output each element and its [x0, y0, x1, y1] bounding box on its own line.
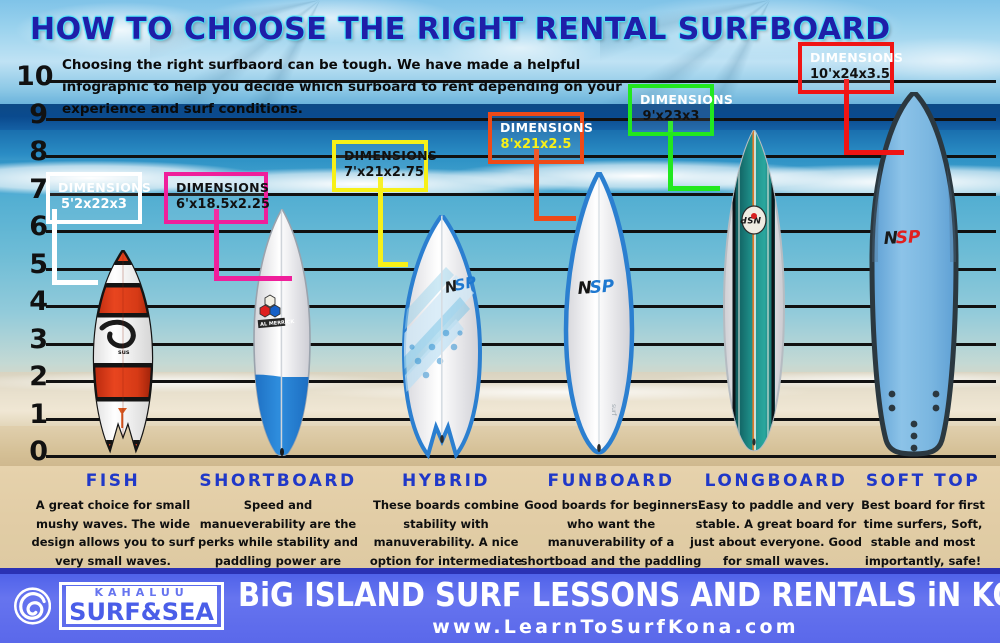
wave-spiral-icon [14, 577, 51, 635]
dimension-callout-soft-top[interactable]: DIMENSIONS10'x24x3.5 [798, 42, 894, 94]
funboard-fin [597, 444, 601, 452]
scale-gridline-2 [46, 380, 996, 383]
caption-description: Easy to paddle and very stable. A great … [686, 496, 866, 571]
board-longboard[interactable]: NSP [714, 130, 794, 455]
callout-heading: DIMENSIONS [640, 93, 702, 107]
callout-leader-horizontal-4 [668, 186, 720, 191]
callout-leader-horizontal-2 [378, 262, 408, 267]
infographic-page: HOW TO CHOOSE THE RIGHT RENTAL SURFBOARD… [0, 0, 1000, 643]
scale-tick-3: 3 [16, 326, 48, 353]
hybrid-fin [440, 435, 444, 443]
callout-value: 5'2x22x3 [58, 195, 130, 215]
callout-heading: DIMENSIONS [810, 51, 882, 65]
scale-gridline-5 [46, 268, 996, 271]
callout-leader-horizontal-3 [534, 216, 576, 221]
scale-tick-1: 1 [16, 401, 48, 428]
callout-value: 8'x21x2.5 [500, 135, 572, 155]
callout-heading: DIMENSIONS [500, 121, 572, 135]
callout-leader-horizontal-0 [52, 280, 98, 285]
dimension-callout-longboard[interactable]: DIMENSIONS9'x23x3 [628, 84, 714, 136]
callout-value: 7'x21x2.75 [344, 163, 416, 183]
callout-leader-horizontal-5 [844, 150, 904, 155]
svg-text:SP: SP [589, 276, 616, 298]
board-shortboard[interactable]: AL MERRICK [244, 209, 320, 459]
longboard-fin [752, 439, 755, 446]
scale-tick-8: 8 [16, 138, 48, 165]
scale-tick-0: 0 [16, 438, 48, 465]
brand-logo[interactable]: KAHALUU SURF&SEA [14, 574, 224, 638]
caption-title: FISH [28, 470, 198, 493]
brand-surfsea: SURF&SEA [66, 600, 217, 624]
callout-heading: DIMENSIONS [58, 181, 130, 195]
scale-gridline-4 [46, 305, 996, 308]
callout-value: 6'x18.5x2.25 [176, 195, 256, 215]
funboard-tail-mark: surf [610, 404, 617, 416]
svg-text:sus: sus [118, 349, 130, 356]
callout-heading: DIMENSIONS [176, 181, 256, 195]
caption-title: LONGBOARD [686, 470, 866, 493]
board-softtop[interactable]: N SP [862, 92, 966, 458]
board-caption-longboard: LONGBOARDEasy to paddle and very stable.… [686, 470, 866, 570]
footer-website-url[interactable]: www.LearnToSurfKona.com [238, 616, 993, 638]
board-hybrid[interactable]: N SP [396, 215, 488, 460]
scale-tick-5: 5 [16, 251, 48, 278]
brand-wordmark: KAHALUU SURF&SEA [59, 582, 224, 630]
caption-title: HYBRID [358, 470, 534, 493]
callout-leader-horizontal-1 [214, 276, 292, 281]
caption-title: FUNBOARD [518, 470, 704, 493]
caption-title: SOFT TOP [848, 470, 998, 493]
dimension-callout-funboard[interactable]: DIMENSIONS8'x21x2.5 [488, 112, 584, 164]
nsp-logo-softtop: N SP [883, 227, 921, 249]
scale-tick-4: 4 [16, 288, 48, 315]
longboard-stripes [733, 130, 776, 455]
scale-gridline-1 [46, 418, 996, 421]
page-title: HOW TO CHOOSE THE RIGHT RENTAL SURFBOARD [30, 12, 730, 47]
scale-tick-7: 7 [16, 176, 48, 203]
scale-gridline-3 [46, 343, 996, 346]
scale-gridline-6 [46, 230, 996, 233]
intro-paragraph: Choosing the right surfbaord can be toug… [62, 55, 632, 121]
softtop-outline [872, 92, 956, 454]
dimension-callout-shortboard[interactable]: DIMENSIONS6'x18.5x2.25 [164, 172, 268, 224]
svg-text:NSP: NSP [740, 214, 761, 224]
dimension-callout-fish[interactable]: DIMENSIONS5'2x22x3 [46, 172, 142, 224]
board-caption-soft-top: SOFT TOPBest board for first time surfer… [848, 470, 998, 570]
callout-value: 9'x23x3 [640, 107, 702, 127]
footer-banner: KAHALUU SURF&SEA BiG ISLAND SURF LESSONS… [0, 568, 1000, 643]
scale-tick-6: 6 [16, 213, 48, 240]
board-funboard[interactable]: N SP surf [556, 172, 642, 455]
caption-description: A great choice for small mushy waves. Th… [28, 496, 198, 571]
scale-tick-2: 2 [16, 363, 48, 390]
shortboard-fin [280, 448, 284, 456]
callout-value: 10'x24x3.5 [810, 65, 882, 85]
scale-gridline-0 [46, 455, 996, 458]
callout-heading: DIMENSIONS [344, 149, 416, 163]
board-caption-fish: FISHA great choice for small mushy waves… [28, 470, 198, 570]
footer-headline: BiG ISLAND SURF LESSONS AND RENTALS iN K… [238, 576, 993, 614]
nsp-logo-funboard: N SP [577, 276, 616, 299]
scale-tick-10: 10 [16, 63, 48, 90]
caption-description: Best board for first time surfers, Soft,… [848, 496, 998, 571]
dimension-callout-hybrid[interactable]: DIMENSIONS7'x21x2.75 [332, 140, 428, 192]
caption-title: SHORTBOARD [192, 470, 364, 493]
scale-tick-9: 9 [16, 101, 48, 128]
svg-text:SP: SP [895, 227, 921, 248]
